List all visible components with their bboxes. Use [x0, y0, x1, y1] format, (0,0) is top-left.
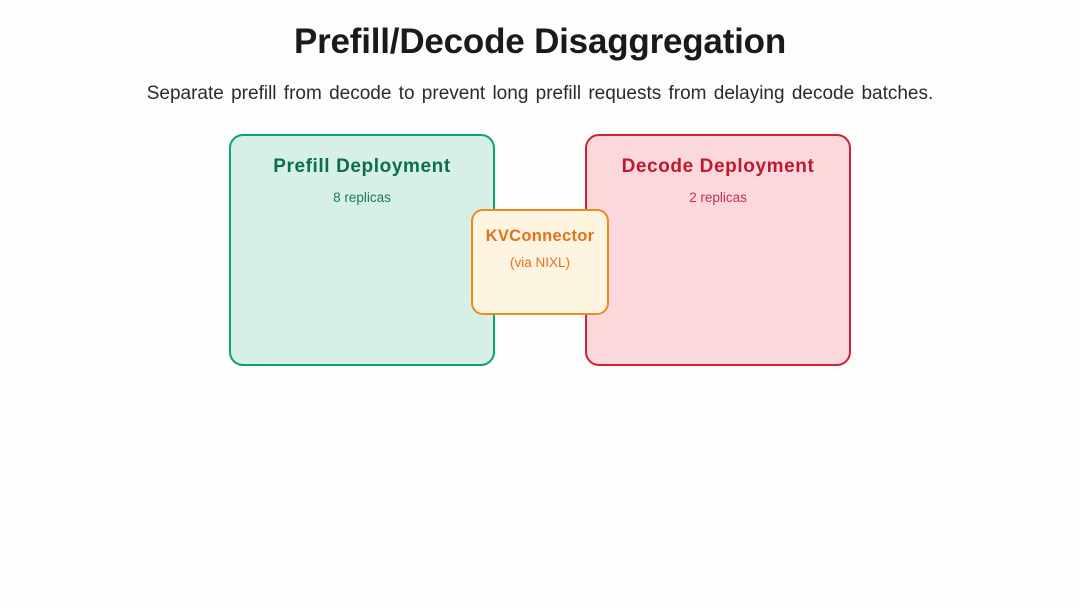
- prefill-deployment-title: Prefill Deployment: [231, 156, 493, 178]
- decode-deployment-replicas: 2 replicas: [587, 190, 849, 205]
- decode-deployment-box: Decode Deployment 2 replicas: [585, 134, 851, 366]
- slide-canvas: Prefill/Decode Disaggregation Separate p…: [0, 0, 1080, 608]
- prefill-deployment-replicas: 8 replicas: [231, 190, 493, 205]
- kv-connector-box: KVConnector (via NIXL): [471, 209, 609, 315]
- kv-connector-subtitle: (via NIXL): [473, 255, 607, 270]
- decode-deployment-title: Decode Deployment: [587, 156, 849, 178]
- kv-connector-title: KVConnector: [473, 227, 607, 246]
- page-subtitle: Separate prefill from decode to prevent …: [0, 83, 1080, 105]
- page-title: Prefill/Decode Disaggregation: [0, 22, 1080, 62]
- prefill-deployment-box: Prefill Deployment 8 replicas: [229, 134, 495, 366]
